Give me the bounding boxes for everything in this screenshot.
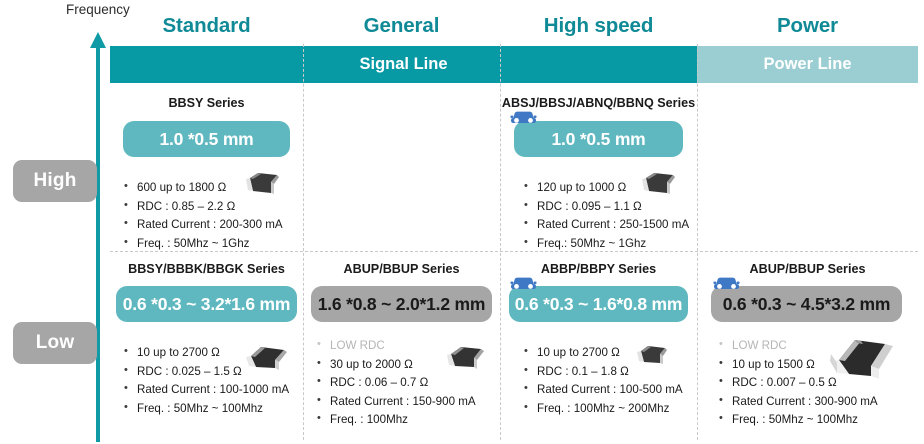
cell-low-high-speed: ABBP/BBPY Series 0.6 *0.3 ~ 1.6*0.8 mm 1… [500,258,697,440]
column-header-high-speed: High speed [500,12,697,40]
cell-high-general-empty [303,92,500,250]
power-line-bar-label: Power Line [763,55,851,74]
cell-low-standard: BBSY/BBBK/BBGK Series 0.6 *0.3 ~ 3.2*1.6… [110,258,303,440]
cell-low-general: ABUP/BBUP Series 1.6 *0.8 ~ 2.0*1.2 mm L… [303,258,500,440]
automotive-car-icon [713,274,740,291]
size-pill-label: 0.6 *0.3 ~ 4.5*3.2 mm [723,294,891,315]
spec-bullet: Rated Current : 250-1500 mA [522,218,697,231]
size-pill-label: 0.6 *0.3 ~ 1.6*0.8 mm [515,294,683,315]
spec-bullet: Rated Current : 100-1000 mA [122,383,303,396]
size-pill-label: 1.6 *0.8 ~ 2.0*1.2 mm [318,294,486,315]
smd-chip-bead-image [445,340,485,373]
cell-title: BBSY/BBBK/BBGK Series [110,262,303,276]
spec-bullet: Freq. : 50Mhz ~ 1Ghz [122,237,303,250]
cell-low-power: ABUP/BBUP Series 0.6 *0.3 ~ 4.5*3.2 mm L… [697,258,918,440]
smd-chip-bead-large-image [825,332,897,386]
power-line-bar: Power Line [697,46,918,83]
size-pill-label: 1.0 *0.5 mm [551,129,645,150]
spec-bullet: RDC : 0.095 – 1.1 Ω [522,200,697,213]
cell-title: BBSY Series [110,96,303,110]
spec-bullet: RDC : 0.85 – 2.2 Ω [122,200,303,213]
row-divider [110,251,918,252]
automotive-car-icon [510,108,537,125]
smd-chip-bead-image [636,340,668,368]
signal-line-bar-label: Signal Line [359,55,447,74]
spec-bullet: Freq. : 100Mhz ~ 200Mhz [522,402,697,415]
signal-line-bar: Signal Line [110,46,697,83]
smd-chip-bead-image [244,340,288,374]
size-pill: 1.0 *0.5 mm [514,121,683,157]
spec-bullet: Freq. : 100Mhz [315,413,500,426]
size-pill-label: 1.0 *0.5 mm [159,129,253,150]
column-header-standard: Standard [110,12,303,40]
smd-chip-bead-image [640,166,676,198]
product-positioning-matrix: Frequency High Low Standard General High… [0,0,924,444]
size-pill: 1.0 *0.5 mm [123,121,290,157]
spec-bullet: Rated Current : 150-900 mA [315,395,500,408]
cell-title: ABUP/BBUP Series [303,262,500,276]
size-pill: 0.6 *0.3 ~ 3.2*1.6 mm [116,286,297,322]
spec-bullet: Freq. : 50Mhz ~ 100Mhz [122,402,303,415]
spec-bullet: Rated Current : 200-300 mA [122,218,303,231]
smd-chip-bead-image [244,166,280,198]
spec-bullet-list: 10 up to 2700 Ω RDC : 0.1 – 1.8 Ω Rated … [522,346,697,415]
cell-high-power-empty [697,92,918,250]
spec-bullet: RDC : 0.06 – 0.7 Ω [315,376,500,389]
level-chip-high: High [13,160,97,202]
size-pill-label: 0.6 *0.3 ~ 3.2*1.6 mm [123,294,291,315]
level-chip-high-label: High [33,170,76,192]
automotive-car-icon [510,274,537,291]
spec-bullet: Rated Current : 300-900 mA [717,395,918,408]
spec-bullet: Freq. : 50Mhz ~ 100Mhz [717,413,918,426]
spec-bullet: Rated Current : 100-500 mA [522,383,697,396]
spec-bullet: RDC : 0.1 – 1.8 Ω [522,365,697,378]
size-pill: 1.6 *0.8 ~ 2.0*1.2 mm [311,286,492,322]
column-header-power: Power [697,12,918,40]
level-chip-low-label: Low [36,332,75,354]
level-chip-low: Low [13,322,97,364]
size-pill: 0.6 *0.3 ~ 1.6*0.8 mm [509,286,688,322]
cell-high-high-speed: ABSJ/BBSJ/ABNQ/BBNQ Series 1.0 *0.5 mm 1… [500,92,697,250]
spec-bullet: Freq.: 50Mhz ~ 1Ghz [522,237,697,250]
column-header-general: General [303,12,500,40]
spec-bullet: 10 up to 2700 Ω [522,346,697,359]
cell-high-standard: BBSY Series 1.0 *0.5 mm 600 up to 1800 Ω… [110,92,303,250]
size-pill: 0.6 *0.3 ~ 4.5*3.2 mm [711,286,902,322]
frequency-up-arrow-icon [88,26,108,442]
